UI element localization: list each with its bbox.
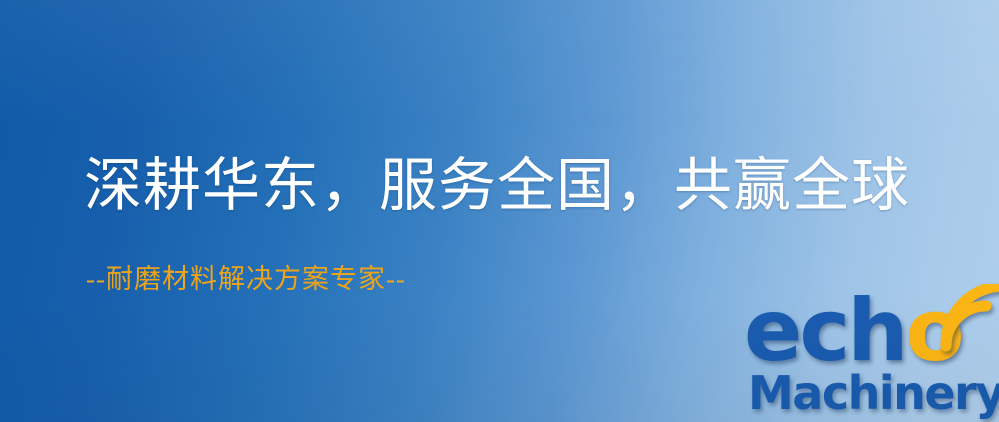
logo-tagline: Machinery® (748, 364, 999, 416)
banner-headline: 深耕华东，服务全国，共赢全球 (84, 152, 910, 220)
banner-subtitle: --耐磨材料解决方案专家-- (86, 262, 406, 296)
signal-arcs-icon (940, 284, 999, 354)
logo-wordmark: echo (744, 288, 962, 374)
logo-tagline-text: Machinery (748, 366, 999, 420)
hero-banner: 深耕华东，服务全国，共赢全球 --耐磨材料解决方案专家-- echo Machi… (0, 0, 999, 422)
company-logo[interactable]: echo Machinery® (744, 288, 999, 422)
